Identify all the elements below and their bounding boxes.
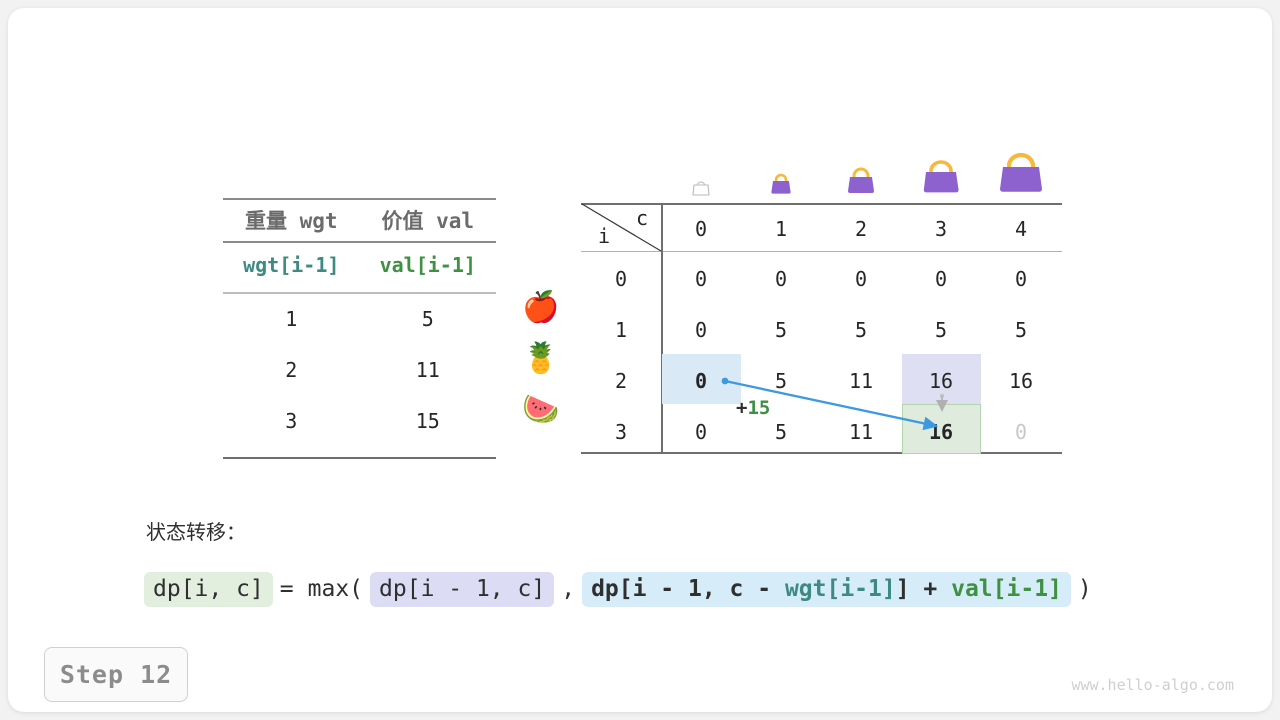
dp-cell: 5 <box>821 318 901 342</box>
watermelon-emoji: 🍉 <box>513 395 569 425</box>
items-header-weight: 重量 wgt <box>223 205 360 235</box>
items-subheader-wgt: wgt[i-1] <box>223 253 360 277</box>
bag-capacity-3 <box>901 153 981 201</box>
dp-cell-pending: 0 <box>981 420 1061 444</box>
bag-capacity-4 <box>981 145 1061 201</box>
dp-cell: 0 <box>661 420 741 444</box>
dp-cell-target: 16 <box>901 420 981 444</box>
watermark: www.hello-algo.com <box>1071 676 1234 694</box>
dp-row-header-0: 0 <box>581 267 661 291</box>
transition-label: 状态转移： <box>146 516 246 545</box>
item-weight: 1 <box>223 307 360 331</box>
dp-cell: 5 <box>741 420 821 444</box>
dp-row-header-3: 3 <box>581 420 661 444</box>
formula-token-val: val[i-1] <box>951 576 1062 602</box>
dp-cell: 16 <box>981 369 1061 393</box>
formula-arg-take-prefix: dp[i - 1, c - <box>591 576 785 602</box>
dp-cell: 0 <box>981 267 1061 291</box>
formula-comma: , <box>554 576 582 602</box>
items-table-row: 2 11 <box>223 344 496 395</box>
formula-token-wgt: wgt[i-1] <box>785 576 896 602</box>
formula-arg-skip: dp[i - 1, c] <box>370 572 554 607</box>
dp-col-header-1: 1 <box>741 217 821 241</box>
dp-cell-prev-row: 16 <box>901 369 981 393</box>
dp-cell: 0 <box>661 318 741 342</box>
items-header-value: 价值 val <box>360 205 497 235</box>
dp-cell: 5 <box>981 318 1061 342</box>
bag-icons-row <box>661 138 1062 203</box>
items-subheader-val: val[i-1] <box>360 253 497 277</box>
dp-table-bottom-rule <box>581 452 1062 454</box>
formula-max-open: max( <box>301 576 370 602</box>
dp-cell: 0 <box>661 267 741 291</box>
items-table-subheader-row: wgt[i-1] val[i-1] <box>223 243 496 286</box>
items-table-row: 3 15 <box>223 395 496 446</box>
bag-capacity-2 <box>821 163 901 201</box>
dp-cell: 0 <box>821 267 901 291</box>
bag-outline-icon <box>690 177 712 197</box>
formula-arg-take-mid: ] + <box>896 576 951 602</box>
items-table-header-row: 重量 wgt 价值 val <box>223 198 496 241</box>
bag-capacity-0 <box>661 177 741 201</box>
dp-row-header-2: 2 <box>581 369 661 393</box>
formula-equals: = <box>273 576 301 602</box>
bag-icon <box>992 145 1050 197</box>
dp-cell: 0 <box>901 267 981 291</box>
dp-table: i c 0 1 2 3 4 0 1 2 3 0 0 0 0 0 0 5 5 5 … <box>581 138 1062 454</box>
dp-cell-source: 0 <box>661 369 741 393</box>
dp-cell: 5 <box>741 318 821 342</box>
dp-col-header-4: 4 <box>981 217 1061 241</box>
bag-icon <box>842 163 880 197</box>
formula-lhs: dp[i, c] <box>144 572 273 607</box>
item-value: 15 <box>360 409 497 433</box>
gain-value: 15 <box>747 397 770 419</box>
dp-axis-label-c: c <box>627 206 657 230</box>
dp-col-header-2: 2 <box>821 217 901 241</box>
dp-cell: 11 <box>821 369 901 393</box>
item-value: 11 <box>360 358 497 382</box>
item-value: 5 <box>360 307 497 331</box>
apple-emoji: 🍎 <box>513 293 569 323</box>
items-table: 重量 wgt 价值 val wgt[i-1] val[i-1] 1 5 2 11… <box>223 198 496 458</box>
page-background: 重量 wgt 价值 val wgt[i-1] val[i-1] 1 5 2 11… <box>0 0 1280 720</box>
item-weight: 3 <box>223 409 360 433</box>
bag-icon <box>917 153 965 197</box>
items-table-row: 1 5 <box>223 293 496 344</box>
dp-cell: 0 <box>741 267 821 291</box>
items-table-bottom-rule <box>223 457 496 459</box>
dp-row-header-1: 1 <box>581 318 661 342</box>
formula-close-paren: ) <box>1071 576 1099 602</box>
step-badge: Step 12 <box>44 647 188 702</box>
gain-sign: + <box>736 397 747 419</box>
dp-col-header-3: 3 <box>901 217 981 241</box>
dp-cell: 5 <box>741 369 821 393</box>
dp-cell: 11 <box>821 420 901 444</box>
formula-arg-take: dp[i - 1, c - wgt[i-1]] + val[i-1] <box>582 572 1071 607</box>
transition-formula: dp[i, c] = max( dp[i - 1, c] , dp[i - 1,… <box>144 568 1099 610</box>
pineapple-emoji: 🍍 <box>513 344 569 374</box>
bag-capacity-1 <box>741 169 821 201</box>
item-weight: 2 <box>223 358 360 382</box>
dp-col-header-0: 0 <box>661 217 741 241</box>
gain-annotation: +15 <box>736 397 770 419</box>
slide-card: 重量 wgt 价值 val wgt[i-1] val[i-1] 1 5 2 11… <box>8 8 1272 712</box>
bag-icon <box>766 169 796 197</box>
dp-cell: 5 <box>901 318 981 342</box>
dp-axis-label-i: i <box>589 224 619 248</box>
